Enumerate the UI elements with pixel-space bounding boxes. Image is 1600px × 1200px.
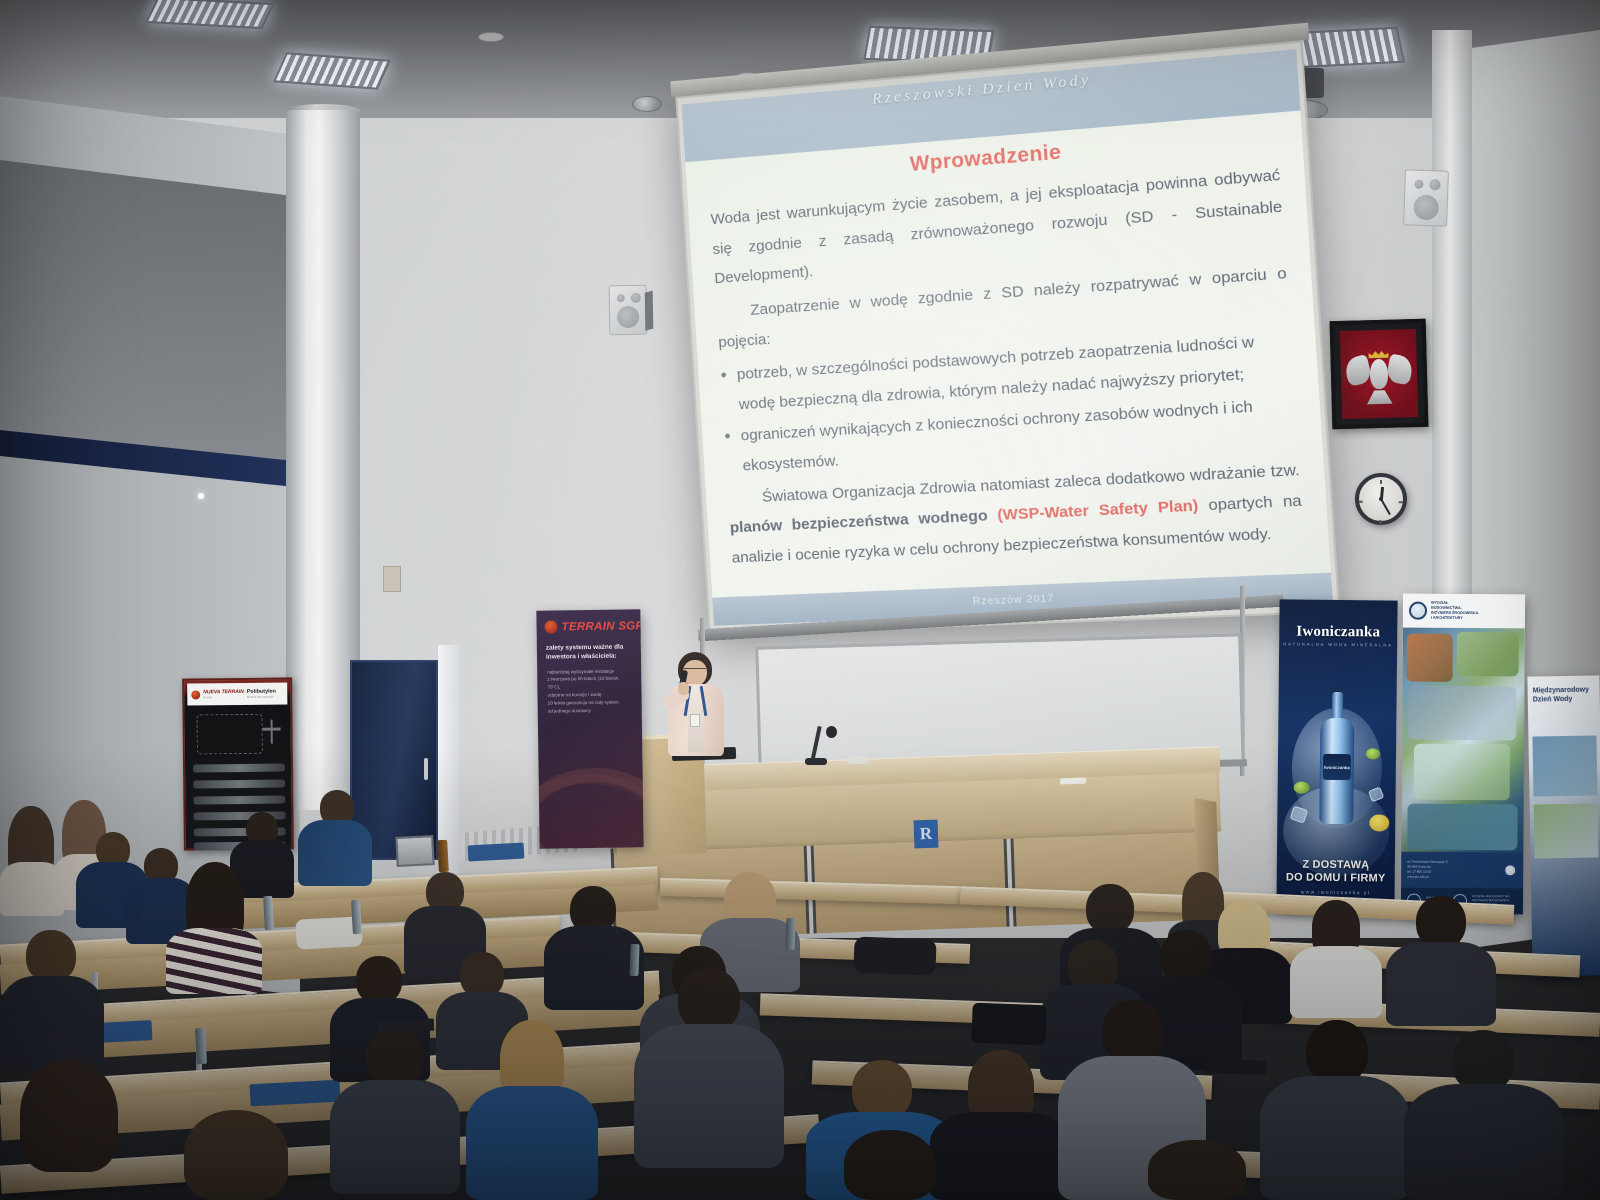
lime-slice-icon <box>1294 782 1310 794</box>
right-wall-column <box>1432 30 1472 650</box>
person-torso <box>1260 1076 1410 1200</box>
audience-member <box>330 1028 460 1194</box>
terrain-rollup-banner: TERRAIN SGP zalety systemu ważne dla inw… <box>536 609 643 848</box>
emblem-red-field <box>1340 329 1418 419</box>
person-head <box>1086 884 1134 934</box>
presenter <box>664 652 728 756</box>
pipe-sample <box>193 780 285 789</box>
pipe-sample <box>193 764 285 773</box>
audience-member <box>0 1060 150 1200</box>
politechnika-header: WYDZIAŁ BUDOWNICTWA, INŻYNIERII ŚRODOWIS… <box>1403 594 1525 629</box>
name-badge <box>690 714 700 727</box>
politechnika-address-strip: al. Powstańców Warszawy 6 35-959 Rzeszów… <box>1401 852 1523 889</box>
person-head <box>1416 896 1466 948</box>
audience-member <box>1404 1030 1564 1200</box>
speaker-tweeter-icon <box>1429 179 1440 190</box>
person-head <box>366 1028 424 1088</box>
polish-eagle-emblem <box>1330 319 1429 429</box>
seat-cushion <box>468 843 525 862</box>
eagle-wing-left-icon <box>1343 354 1373 387</box>
person-head <box>1102 1000 1164 1064</box>
mineral-water-bottle: Iwoniczanka <box>1319 692 1354 824</box>
person-hair <box>1148 1140 1246 1200</box>
audience-member <box>0 930 104 1070</box>
iwoniczanka-cta-line-2: DO DOMU I FIRMY <box>1277 871 1395 885</box>
audience-member <box>160 1110 320 1200</box>
eagle-crown-icon <box>1368 350 1388 359</box>
collage-photo <box>1408 686 1516 741</box>
audience-member <box>298 790 372 886</box>
person-hair <box>844 1130 936 1200</box>
projection-screen: Rzeszowski Dzień Wody Wprowadzenie Woda … <box>675 40 1340 636</box>
edge-banner-line-2: Dzień Wody <box>1533 695 1595 705</box>
water-bottle <box>263 896 274 930</box>
edge-banner-text: Międzynarodowy Dzień Wody <box>1527 675 1599 704</box>
person-torso <box>1386 942 1496 1026</box>
clock-minute-hand <box>1380 499 1391 516</box>
terrain-body: najbardziej wytrzymałe instalacje z twor… <box>537 661 642 715</box>
board-product-block: Polibutylen Montaż bez narzędzi! <box>247 689 276 699</box>
person-head <box>1306 1020 1368 1084</box>
slide-p3-highlight: (WSP-Water Safety Plan) <box>997 497 1199 524</box>
desk-university-logo: R <box>914 820 939 849</box>
bottle-label: Iwoniczanka <box>1323 754 1351 780</box>
politechnika-photo-collage <box>1401 628 1525 853</box>
wall-clock <box>1355 473 1407 525</box>
speaker-woofer-icon <box>617 306 639 328</box>
slide-p3-bold: planów bezpieczeństwa wodnego <box>729 507 998 537</box>
partner-seal-icon <box>1503 863 1517 877</box>
person-hair <box>184 1110 288 1200</box>
banner-wave-decor <box>536 773 643 849</box>
lecture-hall-photo: Rzeszowski Dzień Wody Wprowadzenie Woda … <box>0 0 1600 1200</box>
person-head <box>1452 1030 1514 1092</box>
person-head <box>26 930 76 982</box>
person-torso <box>1290 946 1382 1018</box>
beverage-bottle <box>437 840 449 872</box>
collage-photo <box>1407 634 1453 682</box>
seat-cushion <box>249 1080 340 1107</box>
speaker-tweeter-icon <box>617 294 625 302</box>
iwoniczanka-rollup-banner: Iwoniczanka NATURALNA WODA MINERALNA Iwo… <box>1276 599 1397 910</box>
person-head <box>356 956 402 1004</box>
bottle-label-text: Iwoniczanka <box>1324 764 1350 769</box>
water-bottle <box>195 1028 207 1064</box>
terrain-heading: zalety systemu ważne dla inwestora i wła… <box>537 632 641 662</box>
collage-photo <box>1407 804 1517 851</box>
eagle-wing-right-icon <box>1386 353 1415 385</box>
pipe-sample <box>193 796 285 805</box>
audience-member <box>166 862 262 994</box>
audience-member <box>466 1020 598 1200</box>
speaker-tweeter-icon <box>1414 180 1423 189</box>
hall-column <box>286 110 360 810</box>
notebook <box>1206 1059 1266 1075</box>
edge-banner-photo <box>1534 803 1599 858</box>
microphone-icon <box>826 726 837 738</box>
eagle-icon <box>1347 340 1411 408</box>
lime-slice-icon <box>1366 748 1380 759</box>
smoke-detector-icon <box>478 32 504 42</box>
audience-member <box>828 1130 958 1200</box>
board-pipe-diagram <box>196 714 262 755</box>
projected-slide: Rzeszowski Dzień Wody Wprowadzenie Woda … <box>682 49 1333 625</box>
person-torso <box>298 820 372 886</box>
clock-tick <box>1359 501 1363 503</box>
edge-rollup-banner: Międzynarodowy Dzień Wody <box>1527 675 1600 976</box>
board-brand-block: NUEVA TERRAIN Polska <box>203 689 244 699</box>
audience-member <box>634 968 784 1168</box>
collage-photo <box>1414 744 1510 801</box>
valve-icon <box>263 720 281 744</box>
left-wall-upper-panel <box>0 160 290 466</box>
university-seal-icon <box>1409 602 1427 620</box>
person-torso <box>634 1024 784 1168</box>
wall-speaker-left <box>609 285 648 336</box>
water-bottle <box>629 944 639 976</box>
person-head <box>678 968 740 1032</box>
laptop-on-desk <box>395 835 435 867</box>
person-torso <box>466 1086 598 1200</box>
person-head <box>852 1060 912 1120</box>
slide-footer-text: Rzeszów 2017 <box>972 593 1054 608</box>
door-handle-icon[interactable] <box>424 758 428 780</box>
handbag <box>971 1003 1046 1046</box>
iwoniczanka-brand: Iwoniczanka <box>1279 623 1397 641</box>
terrain-logo-icon <box>544 620 557 633</box>
bullet-icon: ● <box>723 422 731 451</box>
desk-item <box>848 756 868 765</box>
person-hair <box>20 1060 118 1172</box>
iwoniczanka-cta: Z DOSTAWĄ DO DOMU I FIRMY <box>1277 859 1395 885</box>
clock-tick <box>1380 520 1382 524</box>
person-torso <box>0 976 104 1070</box>
water-bottle <box>785 918 795 950</box>
wall-outlet-plate <box>383 566 401 592</box>
politechnika-address: al. Powstańców Warszawy 6 35-959 Rzeszów… <box>1407 860 1447 879</box>
edge-banner-photo <box>1532 735 1597 796</box>
audience-member <box>544 886 644 1010</box>
board-brand-sub: Polska <box>203 695 244 699</box>
clock-tick <box>1399 501 1403 503</box>
desk-item <box>1060 778 1086 785</box>
audience-member <box>1290 900 1382 1018</box>
politechnika-header-text: WYDZIAŁ BUDOWNICTWA, INŻYNIERII ŚRODOWIS… <box>1431 601 1479 622</box>
person-torso <box>166 928 262 994</box>
audience-member <box>1386 896 1496 1026</box>
eagle-tail-icon <box>1366 390 1392 405</box>
speaker-tweeter-icon <box>631 293 641 303</box>
ceiling-air-diffuser <box>632 96 662 112</box>
collage-photo <box>1457 632 1519 676</box>
terrain-logo-row: TERRAIN SGP <box>536 609 640 633</box>
presenter-hand <box>678 682 689 695</box>
clock-tick <box>1380 480 1382 484</box>
person-torso <box>330 1080 460 1194</box>
terrain-brand: TERRAIN SGP <box>561 620 643 633</box>
speaker-side-panel <box>645 291 654 332</box>
bullet-icon: ● <box>720 361 728 390</box>
board-header: NUEVA TERRAIN Polska Polibutylen Montaż … <box>187 682 287 705</box>
water-bottle <box>351 900 362 934</box>
eagle-body-icon <box>1370 359 1389 389</box>
clock-center-pin <box>1379 497 1383 501</box>
backpack <box>853 937 936 976</box>
lemon-slice-icon <box>1369 814 1389 831</box>
politechnika-rollup-banner: WYDZIAŁ BUDOWNICTWA, INŻYNIERII ŚRODOWIS… <box>1401 594 1525 915</box>
speaker-woofer-icon <box>1413 195 1439 221</box>
audience-member <box>1260 1020 1410 1200</box>
microphone-base <box>805 758 827 765</box>
person-torso <box>1404 1084 1564 1200</box>
board-product-sub: Montaż bez narzędzi! <box>247 695 276 699</box>
slide-body: Wprowadzenie Woda jest warunkującym życi… <box>685 111 1329 575</box>
wall-light-dot-icon <box>198 493 204 499</box>
wall-speaker-right <box>1403 169 1449 227</box>
nueva-terrain-logo-icon <box>191 690 200 699</box>
politechnika-header-line-4: I ARCHITEKTURY <box>1431 616 1479 621</box>
iwoniczanka-subtitle: NATURALNA WODA MINERALNA <box>1279 641 1397 647</box>
audience-member <box>1130 1140 1270 1200</box>
